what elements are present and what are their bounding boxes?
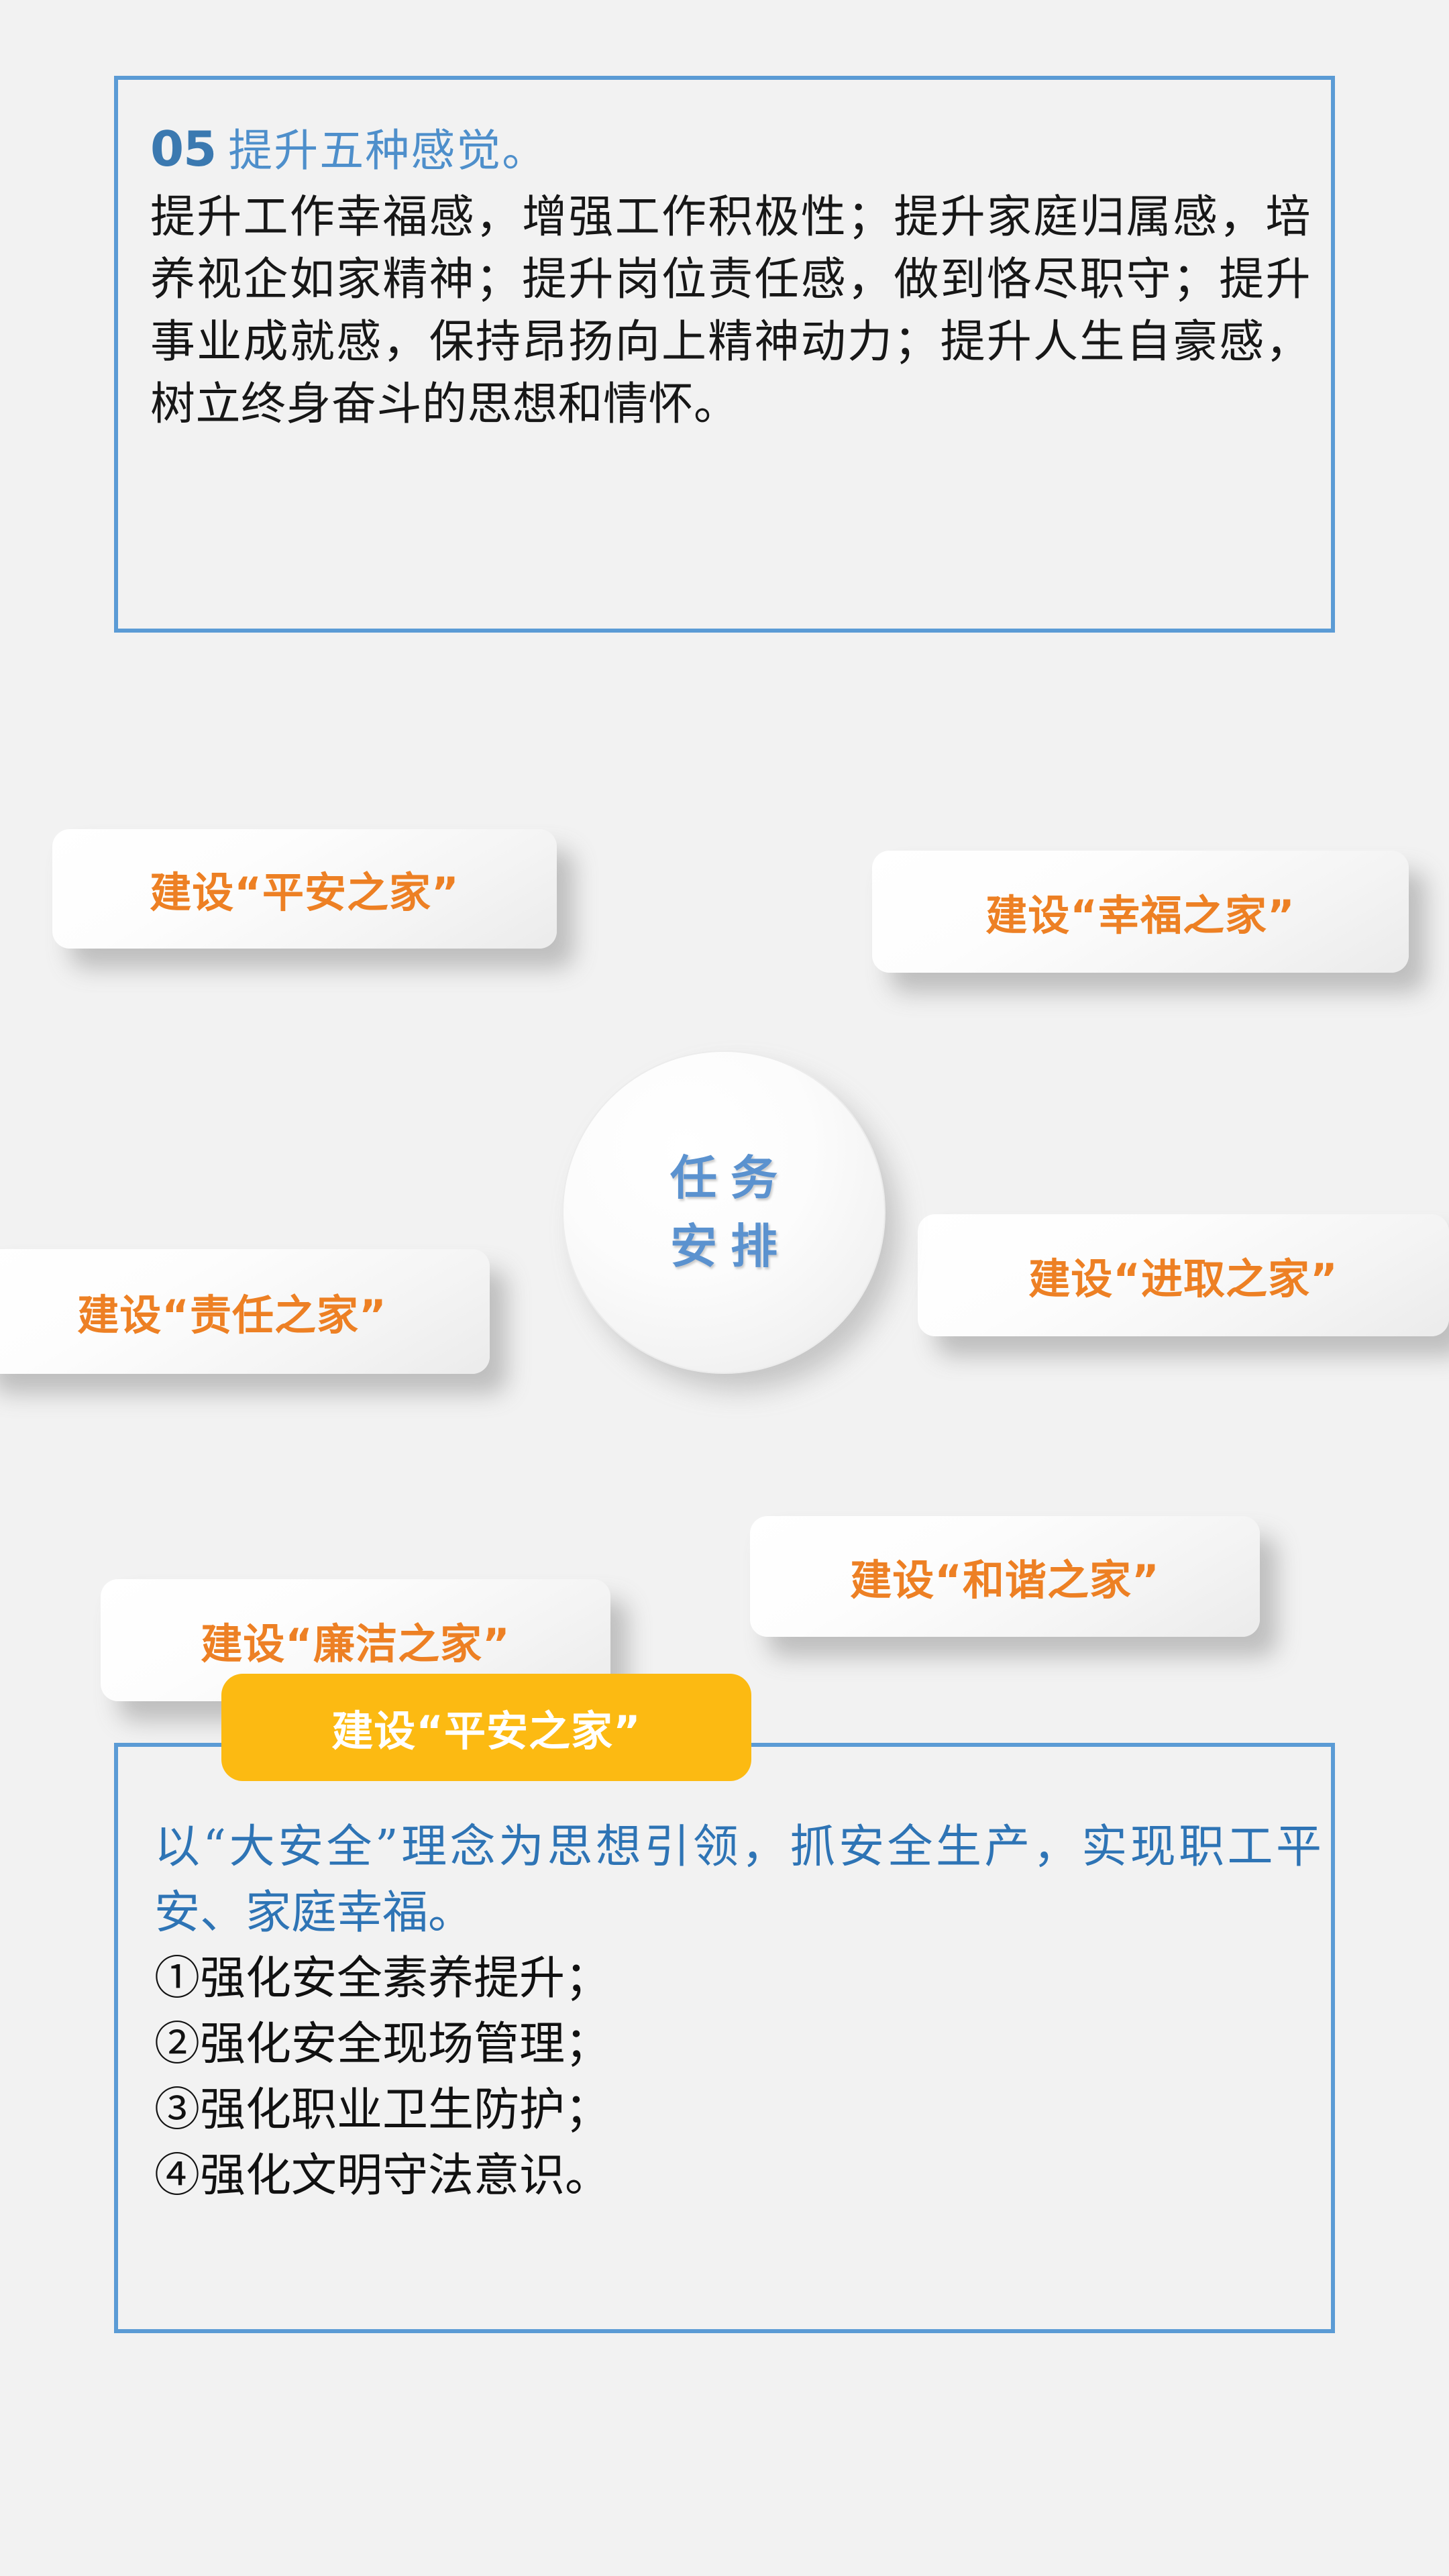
diagram-node-label: 建设“和谐之家” — [750, 1546, 1260, 1607]
diagram-node-label: 建设“平安之家” — [52, 859, 557, 919]
diagram-node-xingfu[interactable]: 建设“幸福之家” — [872, 851, 1409, 973]
diagram-node-label: 建设“责任之家” — [0, 1281, 490, 1342]
diagram-node-jinqu[interactable]: 建设“进取之家” — [918, 1214, 1449, 1336]
section-number: 05 — [150, 121, 216, 177]
bottom-list-item: ④强化文明守法意识。 — [154, 2143, 1322, 2209]
bottom-lead-paragraph: 以“大安全”理念为思想引领，抓安全生产，实现职工平安、家庭幸福。 — [154, 1815, 1322, 1946]
center-circle-line-1: 任务 — [657, 1144, 791, 1212]
diagram-center-circle: 任务 安排 — [563, 1052, 884, 1373]
diagram-node-label: 建设“幸福之家” — [872, 881, 1409, 942]
diagram-node-label: 建设“进取之家” — [918, 1245, 1449, 1305]
diagram-node-pingan[interactable]: 建设“平安之家” — [52, 829, 557, 949]
task-arrangement-diagram: 建设“平安之家” 建设“幸福之家” 建设“进取之家” 建设“责任之家” 建设“和… — [0, 798, 1449, 1617]
section-heading-text: 提升五种感觉。 — [228, 125, 547, 176]
diagram-node-label: 建设“廉洁之家” — [101, 1610, 610, 1670]
diagram-node-zeren[interactable]: 建设“责任之家” — [0, 1249, 490, 1374]
center-circle-line-2: 安排 — [657, 1212, 791, 1281]
bottom-tab-label: 建设“平安之家” — [331, 1697, 641, 1758]
top-content-box: 05提升五种感觉。 提升工作幸福感，增强工作积极性；提升家庭归属感，培养视企如家… — [114, 76, 1335, 633]
bottom-body: 以“大安全”理念为思想引领，抓安全生产，实现职工平安、家庭幸福。 ①强化安全素养… — [154, 1815, 1322, 2209]
top-body-paragraph: 提升工作幸福感，增强工作积极性；提升家庭归属感，培养视企如家精神；提升岗位责任感… — [150, 186, 1311, 435]
bottom-list-item: ②强化安全现场管理； — [154, 2012, 1322, 2078]
top-heading: 05提升五种感觉。 — [150, 115, 547, 179]
bottom-list-item: ③强化职业卫生防护； — [154, 2078, 1322, 2143]
diagram-node-hexie[interactable]: 建设“和谐之家” — [750, 1516, 1260, 1637]
bottom-list-item: ①强化安全素养提升； — [154, 1946, 1322, 2012]
bottom-section-tab[interactable]: 建设“平安之家” — [221, 1674, 751, 1781]
